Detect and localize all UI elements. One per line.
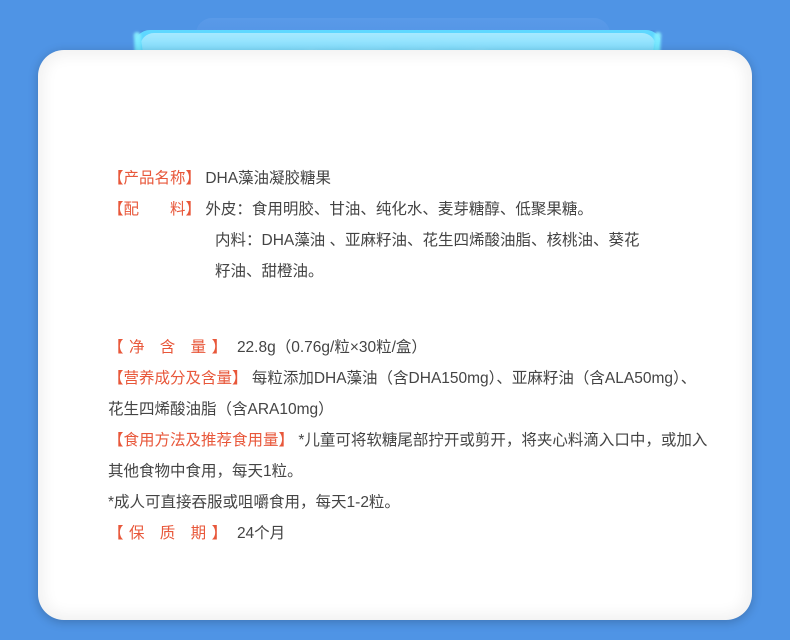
section-gap: [108, 287, 708, 332]
row-shelf-life: 【保 质 期】 24个月: [108, 518, 708, 549]
net-content-value: 22.8g（0.76g/粒×30粒/盒）: [237, 339, 427, 356]
adult-note-value: *成人可直接吞服或咀嚼食用，每天1-2粒。: [108, 494, 400, 511]
row-ingredients-outer: 【配 料】 外皮：食用明胶、甘油、纯化水、麦芽糖醇、低聚果糖。: [108, 194, 708, 225]
row-ingredients-inner-2: 籽油、甜橙油。: [108, 256, 708, 287]
row-product-name: 【产品名称】 DHA藻油凝胶糖果: [108, 163, 708, 194]
net-content-label: 【净 含 量】: [108, 339, 233, 356]
row-net-content: 【净 含 量】 22.8g（0.76g/粒×30粒/盒）: [108, 332, 708, 363]
ingredients-inner-value-1: 内料：DHA藻油 、亚麻籽油、花生四烯酸油脂、核桃油、葵花: [215, 232, 640, 249]
row-usage: 【食用方法及推荐食用量】 *儿童可将软糖尾部拧开或剪开，将夹心料滴入口中，或加入…: [108, 425, 708, 487]
product-name-value: DHA藻油凝胶糖果: [205, 170, 331, 187]
usage-label: 【食用方法及推荐食用量】: [108, 432, 294, 449]
nutrition-label: 【营养成分及含量】: [108, 370, 248, 387]
shelf-life-label: 【保 质 期】: [108, 525, 233, 542]
row-ingredients-inner-1: 内料：DHA藻油 、亚麻籽油、花生四烯酸油脂、核桃油、葵花: [108, 225, 708, 256]
product-name-label: 【产品名称】: [108, 170, 201, 187]
ingredients-label: 【配 料】: [108, 201, 201, 218]
product-info-list: 【产品名称】 DHA藻油凝胶糖果 【配 料】 外皮：食用明胶、甘油、纯化水、麦芽…: [108, 163, 708, 549]
shelf-life-value: 24个月: [237, 525, 285, 542]
ingredients-outer-value: 外皮：食用明胶、甘油、纯化水、麦芽糖醇、低聚果糖。: [205, 201, 593, 218]
product-info-page: 产品信息 【产品名称】 DHA藻油凝胶糖果 【配 料】 外皮：食用明胶、甘油、纯…: [0, 0, 790, 640]
ingredients-inner-value-2: 籽油、甜橙油。: [215, 263, 324, 280]
row-adult-note: *成人可直接吞服或咀嚼食用，每天1-2粒。: [108, 487, 708, 518]
row-nutrition: 【营养成分及含量】 每粒添加DHA藻油（含DHA150mg）、亚麻籽油（含ALA…: [108, 363, 708, 425]
